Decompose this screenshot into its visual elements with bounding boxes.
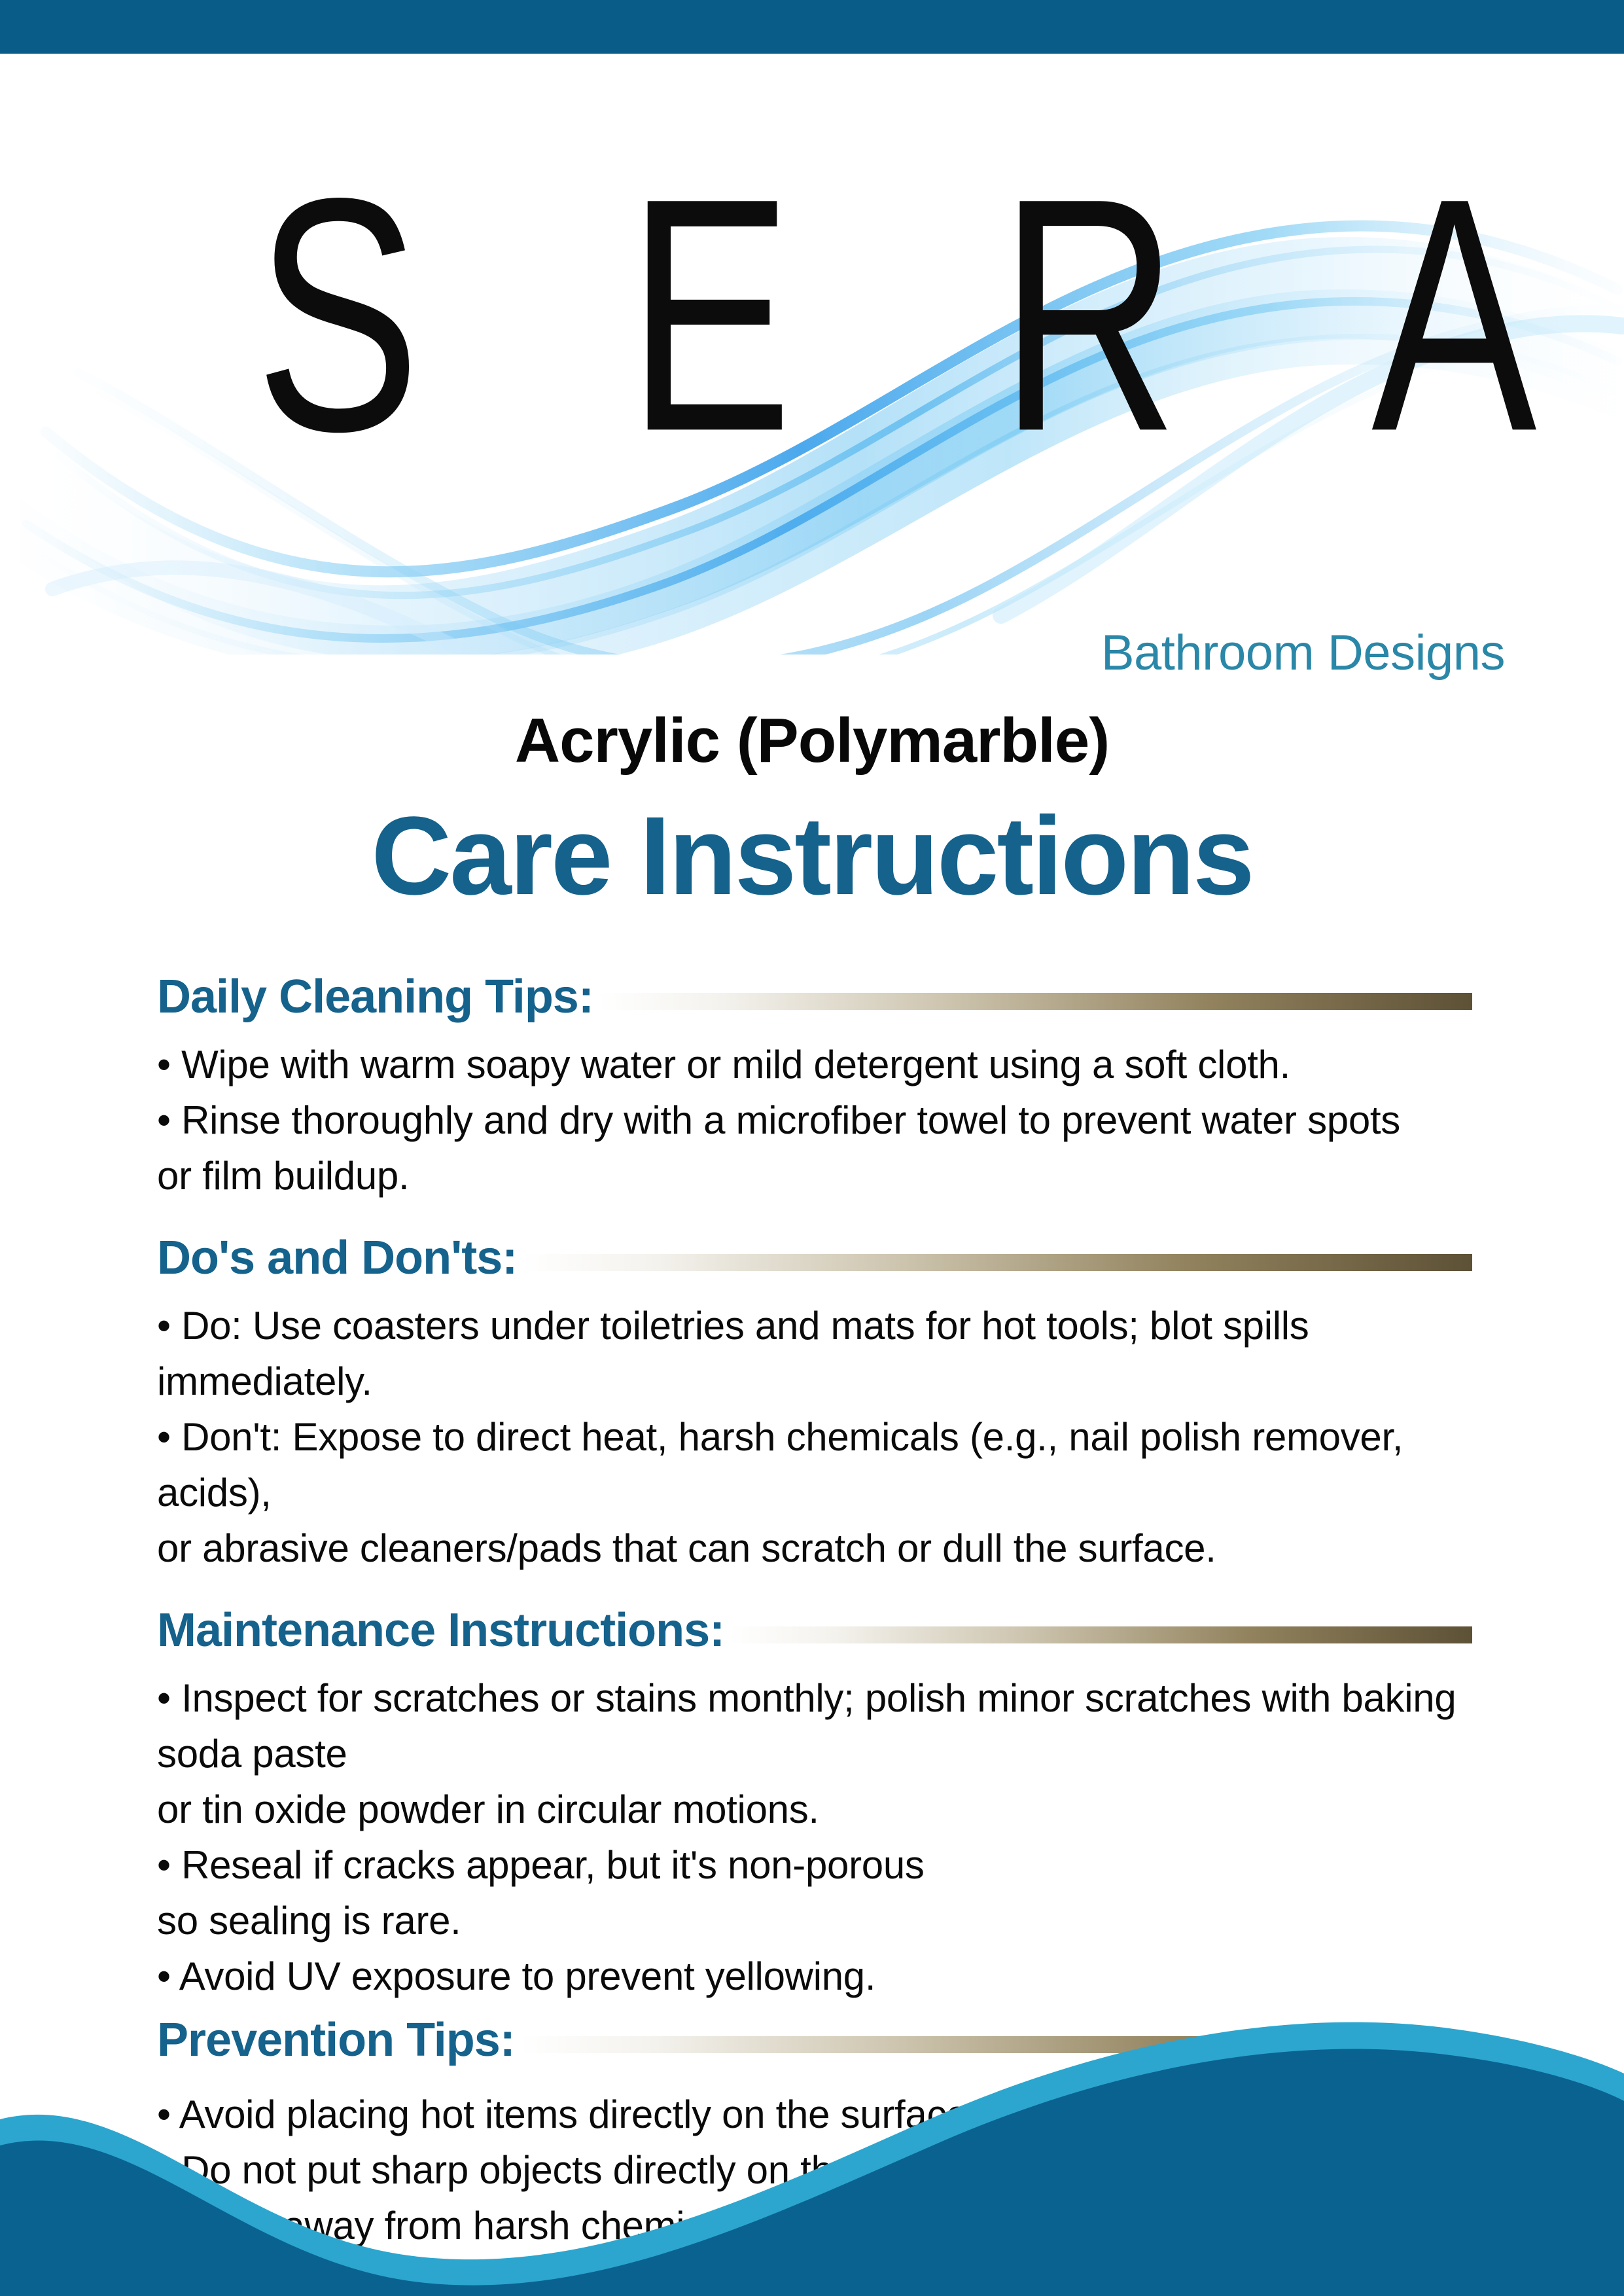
brand-wordmark: S E R A xyxy=(255,149,1269,481)
bullet-list: • Do: Use coasters under toiletries and … xyxy=(157,1298,1472,1576)
list-item: • Rinse thoroughly and dry with a microf… xyxy=(157,1092,1472,1148)
section-daily-cleaning-tips: Daily Cleaning Tips: • Wipe with warm so… xyxy=(157,969,1472,1204)
list-item: or film buildup. xyxy=(157,1148,1472,1204)
section-heading: Maintenance Instructions: xyxy=(157,1603,724,1658)
brand-logo-block: S E R A xyxy=(0,65,1624,655)
page-title: Care Instructions xyxy=(0,795,1624,917)
section-header-row: Do's and Don'ts: xyxy=(157,1230,1472,1286)
section-heading: Prevention Tips: xyxy=(157,2013,515,2068)
bullet-list: • Inspect for scratches or stains monthl… xyxy=(157,1670,1472,2004)
brand-tagline: Bathroom Designs xyxy=(1101,625,1505,681)
section-heading: Do's and Don'ts: xyxy=(157,1230,517,1285)
section-divider-rule xyxy=(522,1254,1472,1271)
list-item: • Wipe with warm soapy water or mild det… xyxy=(157,1037,1472,1092)
list-item: so sealing is rare. xyxy=(157,1893,1472,1948)
section-divider-rule xyxy=(599,993,1472,1010)
section-header-row: Daily Cleaning Tips: xyxy=(157,969,1472,1025)
list-item: or abrasive cleaners/pads that can scrat… xyxy=(157,1520,1472,1576)
list-item: • Inspect for scratches or stains monthl… xyxy=(157,1670,1472,1782)
list-item: • Reseal if cracks appear, but it's non-… xyxy=(157,1837,1472,1893)
top-accent-bar xyxy=(0,0,1624,54)
list-item: • Don't: Expose to direct heat, harsh ch… xyxy=(157,1409,1472,1520)
material-subtitle: Acrylic (Polymarble) xyxy=(0,706,1624,776)
wave-highlight-left xyxy=(52,567,471,655)
list-item: • Avoid UV exposure to prevent yellowing… xyxy=(157,1948,1472,2004)
section-header-row: Maintenance Instructions: xyxy=(157,1602,1472,1659)
section-heading: Daily Cleaning Tips: xyxy=(157,969,593,1024)
section-maintenance-instructions: Maintenance Instructions: • Inspect for … xyxy=(157,1602,1472,2004)
section-dos-and-donts: Do's and Don'ts: • Do: Use coasters unde… xyxy=(157,1230,1472,1576)
list-item: or tin oxide powder in circular motions. xyxy=(157,1782,1472,1837)
bullet-list: • Wipe with warm soapy water or mild det… xyxy=(157,1037,1472,1204)
section-divider-rule xyxy=(730,1626,1472,1643)
list-item: • Do: Use coasters under toiletries and … xyxy=(157,1298,1472,1409)
care-instructions-poster: S E R A Bathroom Designs Acrylic (Polyma… xyxy=(0,0,1624,2296)
